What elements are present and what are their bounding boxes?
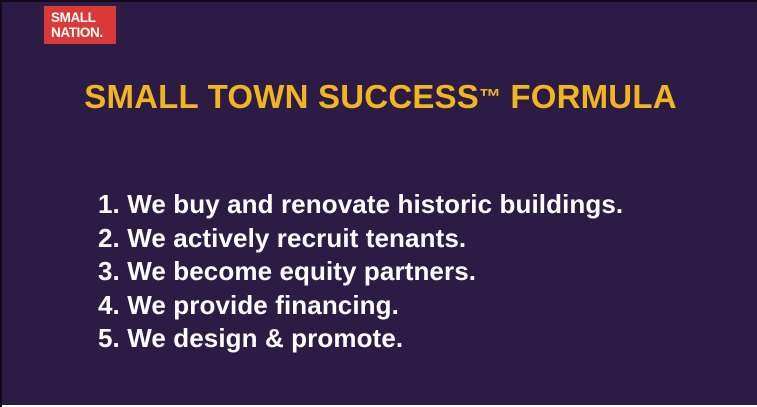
list-item: 2. We actively recruit tenants. bbox=[98, 222, 738, 256]
list-item: 3. We become equity partners. bbox=[98, 255, 738, 289]
slide-title-suffix: FORMULA bbox=[501, 78, 677, 115]
logo-line-nation-text: NATION bbox=[51, 25, 99, 40]
logo-line-small: SMALL bbox=[51, 11, 96, 25]
logo-line-nation: NATION. bbox=[51, 26, 103, 40]
slide-title-main: SMALL TOWN SUCCESS bbox=[84, 78, 479, 115]
list-item: 1. We buy and renovate historic building… bbox=[98, 188, 738, 222]
list-item: 4. We provide financing. bbox=[98, 289, 738, 323]
success-formula-list: 1. We buy and renovate historic building… bbox=[98, 188, 738, 356]
trademark-symbol: ™ bbox=[479, 84, 501, 109]
slide-title: SMALL TOWN SUCCESS™ FORMULA bbox=[2, 78, 757, 116]
list-item: 5. We design & promote. bbox=[98, 322, 738, 356]
small-nation-logo: SMALL NATION. bbox=[44, 6, 116, 44]
presentation-slide: SMALL NATION. SMALL TOWN SUCCESS™ FORMUL… bbox=[0, 0, 757, 407]
logo-trailing-dot: . bbox=[99, 25, 102, 40]
